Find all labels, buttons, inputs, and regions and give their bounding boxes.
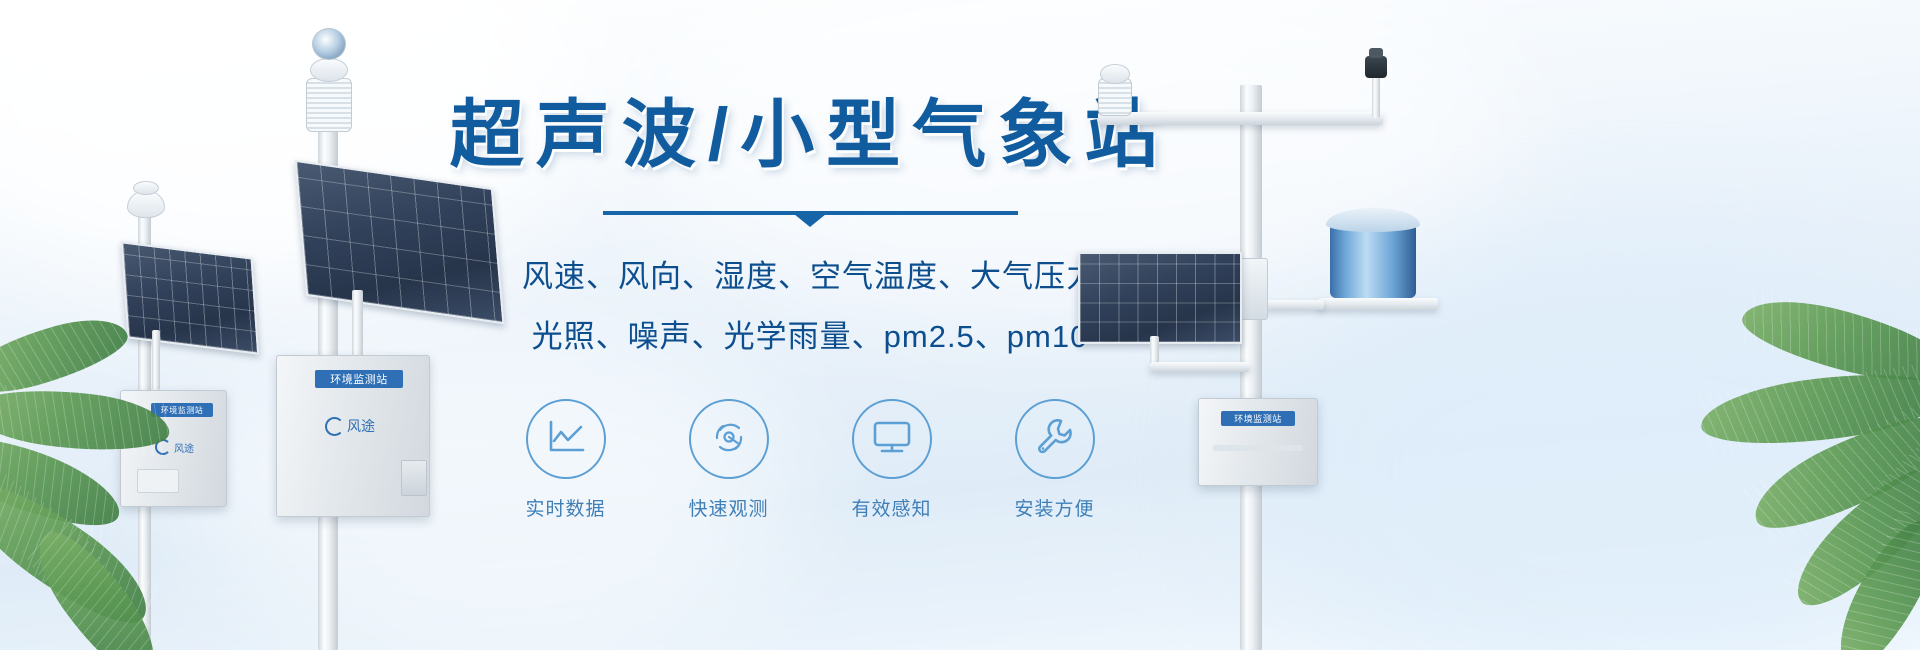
- feature-list: 实时数据 快速观测: [430, 399, 1190, 521]
- subtitle-line-2: 光照、噪声、光学雨量、pm2.5、pm10: [430, 310, 1190, 363]
- cabinet-door-latch: [401, 460, 427, 496]
- feature-item-fast-observation[interactable]: 快速观测: [681, 399, 776, 521]
- line-chart-icon: [546, 419, 586, 460]
- banner-content: 超声波/小型气象站 风速、风向、湿度、空气温度、大气压力 光照、噪声、光学雨量、…: [430, 96, 1190, 521]
- product-hero-banner: 环境监测站 风途 环境监测站 风途 超声波/小型气象站: [0, 0, 1920, 650]
- feature-item-easy-install[interactable]: 安装方便: [1007, 399, 1102, 521]
- panel-arm: [1150, 362, 1250, 372]
- sensor-cap: [310, 58, 348, 82]
- feature-label: 快速观测: [688, 494, 768, 521]
- brand-name: 风途: [174, 440, 194, 455]
- wrench-icon: [1034, 416, 1076, 463]
- feature-icon-circle: [852, 399, 932, 479]
- cross-arm: [1098, 112, 1383, 125]
- feature-item-realtime-data[interactable]: 实时数据: [518, 399, 613, 521]
- feature-item-effective-sensing[interactable]: 有效感知: [844, 399, 939, 521]
- panel-mount: [152, 330, 160, 390]
- feature-label: 实时数据: [525, 494, 605, 521]
- brand-name: 风途: [347, 416, 375, 436]
- cabinet-label: 环境监测站: [1221, 411, 1295, 426]
- page-title: 超声波/小型气象站: [430, 96, 1190, 174]
- ultrasonic-sensor-dome: [312, 28, 346, 60]
- camera-hood: [1369, 48, 1383, 58]
- camera-sensor: [1365, 56, 1387, 78]
- brand-logo: 风途: [325, 416, 375, 436]
- solar-panel: [121, 241, 259, 354]
- radiation-shield: [306, 78, 352, 132]
- radar-wind-icon: [708, 416, 750, 463]
- sensor-mast: [1372, 72, 1380, 118]
- sensor-cap: [1100, 64, 1130, 84]
- rain-gauge-lid: [1326, 208, 1420, 232]
- cabinet-label: 环境监测站: [315, 370, 403, 388]
- solar-panel: [1078, 252, 1242, 344]
- equipment-cabinet: 环境监测站: [1198, 398, 1318, 486]
- cabinet-seam: [1213, 445, 1303, 451]
- feature-icon-circle: [1015, 399, 1095, 479]
- cabinet-vent: [137, 469, 179, 493]
- equipment-cabinet: 环境监测站 风途: [276, 355, 430, 517]
- feature-icon-circle: [689, 399, 769, 479]
- divider-arrow-icon: [794, 214, 826, 227]
- feature-icon-circle: [526, 399, 606, 479]
- sensor-cap: [133, 181, 159, 195]
- monitor-icon: [871, 418, 913, 461]
- instrument-shelf: [1318, 298, 1438, 310]
- brand-mark-icon: [325, 417, 344, 436]
- shelf-connector: [1260, 300, 1324, 310]
- subtitle-line-1: 风速、风向、湿度、空气温度、大气压力: [430, 250, 1190, 303]
- title-divider: [603, 208, 1018, 222]
- feature-label: 安装方便: [1014, 494, 1094, 521]
- feature-label: 有效感知: [851, 494, 931, 521]
- optical-rain-gauge: [1330, 222, 1416, 298]
